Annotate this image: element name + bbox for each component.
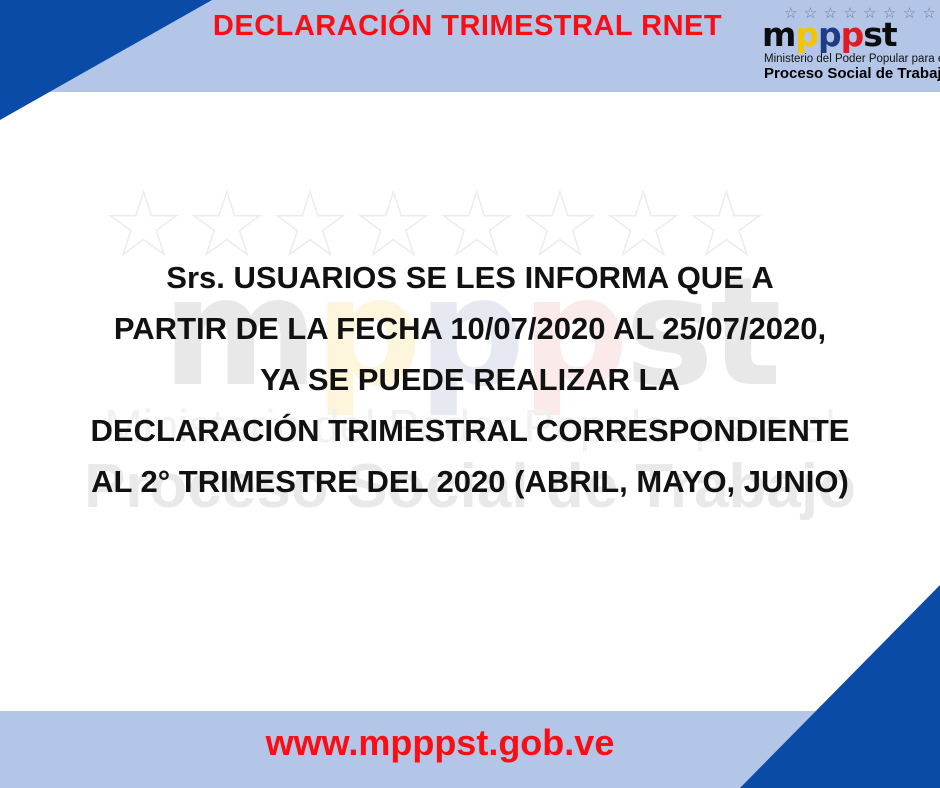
logo-letter-p3: p [841,15,864,54]
message-line-4: DECLARACIÓN TRIMESTRAL CORRESPONDIENTE [8,405,932,456]
logo-wordmark: mpppst [762,19,936,51]
logo-letter-m: m [762,15,795,54]
message-line-5: AL 2° TRIMESTRE DEL 2020 (ABRIL, MAYO, J… [8,456,932,507]
logo-letter-s: s [863,15,882,54]
message-line-2: PARTIR DE LA FECHA 10/07/2020 AL 25/07/2… [8,303,932,354]
logo-letter-p1: p [795,15,818,54]
website-url[interactable]: www.mpppst.gob.ve [0,721,880,765]
logo-letter-p2: p [818,15,841,54]
message-line-1: Srs. USUARIOS SE LES INFORMA QUE A [8,252,932,303]
mpppst-logo: ☆ ☆ ☆ ☆ ☆ ☆ ☆ ☆ mpppst Ministerio del Po… [762,6,936,86]
logo-subtitle-line2: Proceso Social de Trabajo [764,66,936,82]
page-title: DECLARACIÓN TRIMESTRAL RNET [175,10,760,43]
message-line-3: YA SE PUEDE REALIZAR LA [8,354,932,405]
announcement-message: Srs. USUARIOS SE LES INFORMA QUE A PARTI… [8,252,932,507]
logo-letter-t: t [882,15,897,54]
announcement-poster: DECLARACIÓN TRIMESTRAL RNET ☆ ☆ ☆ ☆ ☆ ☆ … [0,0,940,788]
logo-subtitle-line1: Ministerio del Poder Popular para el [764,53,936,65]
